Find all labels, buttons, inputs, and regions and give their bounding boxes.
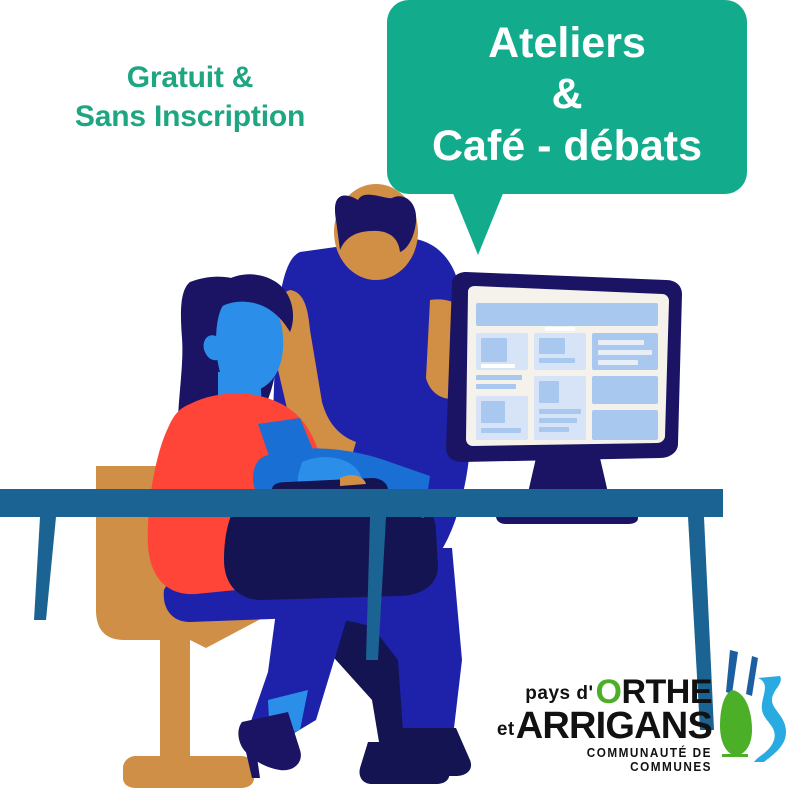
logo-arrigans-text: ARRIGANS [516, 705, 712, 747]
speech-bubble-text: Ateliers & Café - débats [432, 18, 702, 177]
logo-line-one: pays d' ORTHE [497, 670, 712, 708]
speech-bubble: Ateliers & Café - débats [387, 0, 747, 194]
speech-bubble-tail [452, 191, 504, 255]
logo-pays-prefix: pays d' [525, 683, 593, 705]
page-title-headline: Gratuit & Sans Inscription [40, 58, 340, 136]
logo-subtitle: COMMUNAUTÉ DE COMMUNES [510, 746, 712, 774]
computer-monitor [446, 272, 682, 524]
poster-canvas: Gratuit & Sans Inscription Ateliers & Ca… [0, 0, 800, 798]
logo: pays d' ORTHE et ARRIGANS COMMUNAUTÉ DE … [497, 668, 787, 780]
logo-arrigans: ARRIGANS [516, 708, 712, 744]
logo-wordmark: pays d' ORTHE et ARRIGANS COMMUNAUTÉ DE … [497, 668, 712, 780]
logo-line-two: et ARRIGANS [497, 704, 712, 744]
logo-et-prefix: et [497, 719, 515, 741]
logo-leaf-river-mark [702, 650, 792, 765]
